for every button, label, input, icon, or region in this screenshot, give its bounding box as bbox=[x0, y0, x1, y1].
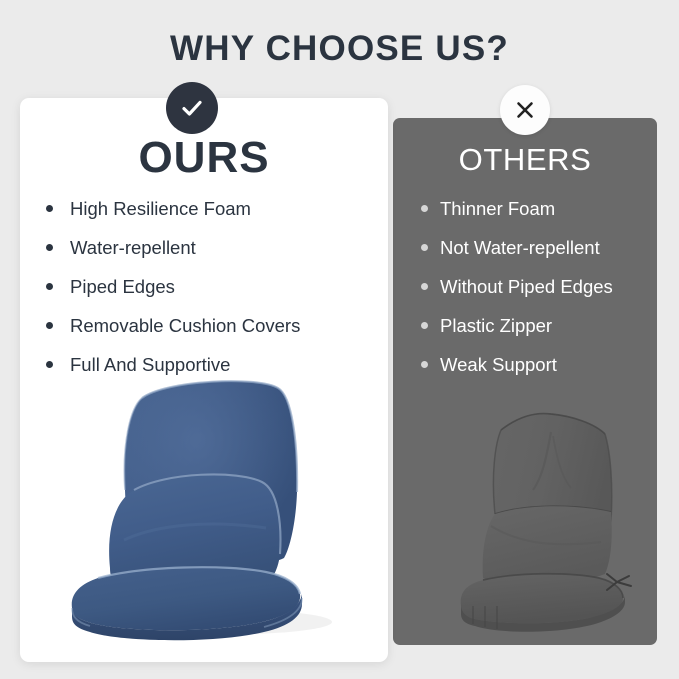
bullet-dot-icon bbox=[421, 361, 428, 368]
bullet-dot-icon bbox=[46, 244, 53, 251]
bullet-dot-icon bbox=[421, 322, 428, 329]
others-item-label: Plastic Zipper bbox=[440, 313, 552, 338]
others-item-label: Weak Support bbox=[440, 352, 557, 377]
list-item: Without Piped Edges bbox=[421, 274, 655, 313]
ours-heading: OURS bbox=[20, 132, 388, 184]
bullet-dot-icon bbox=[46, 322, 53, 329]
others-item-label: Thinner Foam bbox=[440, 196, 555, 221]
list-item: Thinner Foam bbox=[421, 196, 655, 235]
list-item: Water-repellent bbox=[46, 235, 376, 274]
others-item-label: Not Water-repellent bbox=[440, 235, 600, 260]
ours-item-label: Piped Edges bbox=[70, 274, 175, 299]
bullet-dot-icon bbox=[421, 244, 428, 251]
bullet-dot-icon bbox=[421, 283, 428, 290]
ours-feature-list: High Resilience Foam Water-repellent Pip… bbox=[46, 196, 376, 391]
bullet-dot-icon bbox=[46, 205, 53, 212]
others-feature-list: Thinner Foam Not Water-repellent Without… bbox=[421, 196, 655, 391]
ours-item-label: Water-repellent bbox=[70, 235, 196, 260]
others-product-image bbox=[455, 392, 645, 642]
list-item: Piped Edges bbox=[46, 274, 376, 313]
page-title: WHY CHOOSE US? bbox=[0, 28, 679, 70]
close-icon bbox=[513, 98, 537, 122]
bullet-dot-icon bbox=[46, 283, 53, 290]
bullet-dot-icon bbox=[421, 205, 428, 212]
others-close-badge bbox=[500, 85, 550, 135]
ours-item-label: Removable Cushion Covers bbox=[70, 313, 300, 338]
ours-product-image bbox=[62, 372, 352, 644]
others-mid-cushion bbox=[483, 506, 612, 584]
others-heading: OTHERS bbox=[393, 140, 657, 180]
ours-check-badge bbox=[166, 82, 218, 134]
list-item: Removable Cushion Covers bbox=[46, 313, 376, 352]
list-item: High Resilience Foam bbox=[46, 196, 376, 235]
list-item: Not Water-repellent bbox=[421, 235, 655, 274]
list-item: Weak Support bbox=[421, 352, 655, 391]
others-item-label: Without Piped Edges bbox=[440, 274, 613, 299]
list-item: Plastic Zipper bbox=[421, 313, 655, 352]
bullet-dot-icon bbox=[46, 361, 53, 368]
ours-item-label: High Resilience Foam bbox=[70, 196, 251, 221]
check-icon bbox=[178, 94, 206, 122]
